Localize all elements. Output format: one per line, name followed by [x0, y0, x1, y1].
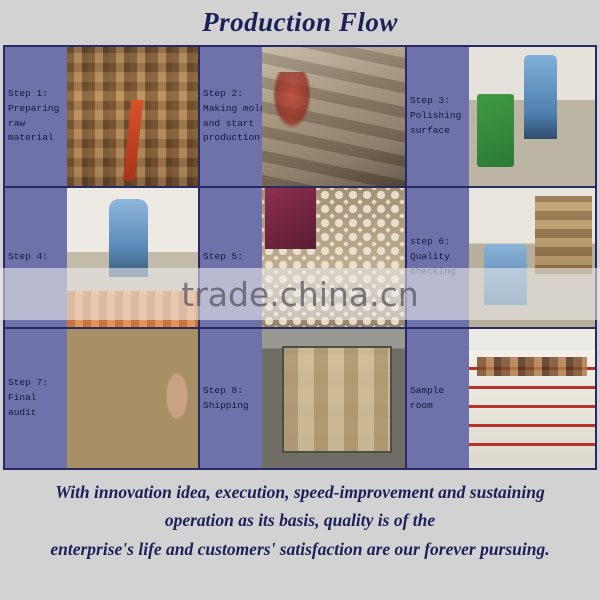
step-photo-final-audit	[67, 329, 198, 468]
step-label-line: Step 7:	[8, 376, 65, 391]
step-photo-preparing-raw-material	[67, 47, 198, 186]
flow-row: Step 7: Final audit Step 8: Shipping Sam…	[5, 329, 595, 468]
slogan-line: enterprise's life and customers' satisfa…	[50, 535, 549, 563]
step-label-line: checking	[410, 265, 467, 280]
slogan-line: With innovation idea, execution, speed-i…	[55, 478, 544, 506]
step-label-line: step 6:	[410, 235, 467, 250]
step-label-4: Step 4:	[5, 188, 67, 327]
step-label-line: Shipping	[203, 399, 260, 414]
step-label-line: Final	[8, 391, 65, 406]
step-photo-beads-sorting	[262, 188, 405, 327]
flow-step-cell-1[interactable]: Step 1: Preparing raw material	[5, 47, 200, 186]
step-label-line: Step 2:	[203, 87, 260, 102]
step-label-7: Step 7: Final audit	[5, 329, 67, 468]
step-label-line: Preparing	[8, 102, 65, 117]
step-photo-worker-sanding	[67, 188, 198, 327]
step-label-line: Sample	[410, 384, 467, 399]
step-label-5: Step 5:	[200, 188, 262, 327]
step-photo-sample-room	[469, 329, 595, 468]
flow-step-cell-3[interactable]: Step 3: Polishing surface	[407, 47, 595, 186]
step-photo-polishing-surface	[469, 47, 595, 186]
step-label-6: step 6: Quality checking	[407, 188, 469, 327]
flow-step-cell-sample-room[interactable]: Sample room	[407, 329, 595, 468]
step-label-line: Step 1:	[8, 87, 65, 102]
page-title-bar: Production Flow	[0, 0, 600, 45]
step-label-line: Polishing	[410, 109, 467, 124]
step-label-2: Step 2: Making mold and start production	[200, 47, 262, 186]
flow-step-cell-2[interactable]: Step 2: Making mold and start production	[200, 47, 407, 186]
company-slogan: With innovation idea, execution, speed-i…	[0, 472, 600, 600]
flow-step-cell-7[interactable]: Step 7: Final audit	[5, 329, 200, 468]
step-label-3: Step 3: Polishing surface	[407, 47, 469, 186]
step-label-sample-room: Sample room	[407, 329, 469, 468]
step-label-line: material	[8, 131, 65, 146]
flow-step-cell-4[interactable]: Step 4:	[5, 188, 200, 327]
step-photo-shipping	[262, 329, 405, 468]
step-label-line: Step 5:	[203, 250, 260, 265]
page-title: Production Flow	[202, 7, 398, 38]
step-label-line: surface	[410, 124, 467, 139]
step-label-line: Step 4:	[8, 250, 65, 265]
step-label-line: audit	[8, 406, 65, 421]
flow-row: Step 4: Step 5: step 6: Quality checking	[5, 188, 595, 329]
step-label-line: room	[410, 399, 467, 414]
step-label-line: Quality	[410, 250, 467, 265]
step-label-8: Step 8: Shipping	[200, 329, 262, 468]
step-label-1: Step 1: Preparing raw material	[5, 47, 67, 186]
step-label-line: Step 8:	[203, 384, 260, 399]
step-label-line: and start	[203, 117, 260, 132]
slogan-line: operation as its basis, quality is of th…	[165, 506, 435, 534]
flow-step-cell-5[interactable]: Step 5:	[200, 188, 407, 327]
step-photo-quality-checking	[469, 188, 595, 327]
step-label-line: Step 3:	[410, 94, 467, 109]
flow-step-cell-8[interactable]: Step 8: Shipping	[200, 329, 407, 468]
flow-step-cell-6[interactable]: step 6: Quality checking	[407, 188, 595, 327]
step-label-line: production	[203, 131, 260, 146]
step-photo-making-mold	[262, 47, 405, 186]
step-label-line: raw	[8, 117, 65, 132]
step-label-line: Making mold	[203, 102, 260, 117]
production-flow-table: Step 1: Preparing raw material Step 2: M…	[3, 45, 597, 470]
flow-row: Step 1: Preparing raw material Step 2: M…	[5, 47, 595, 188]
